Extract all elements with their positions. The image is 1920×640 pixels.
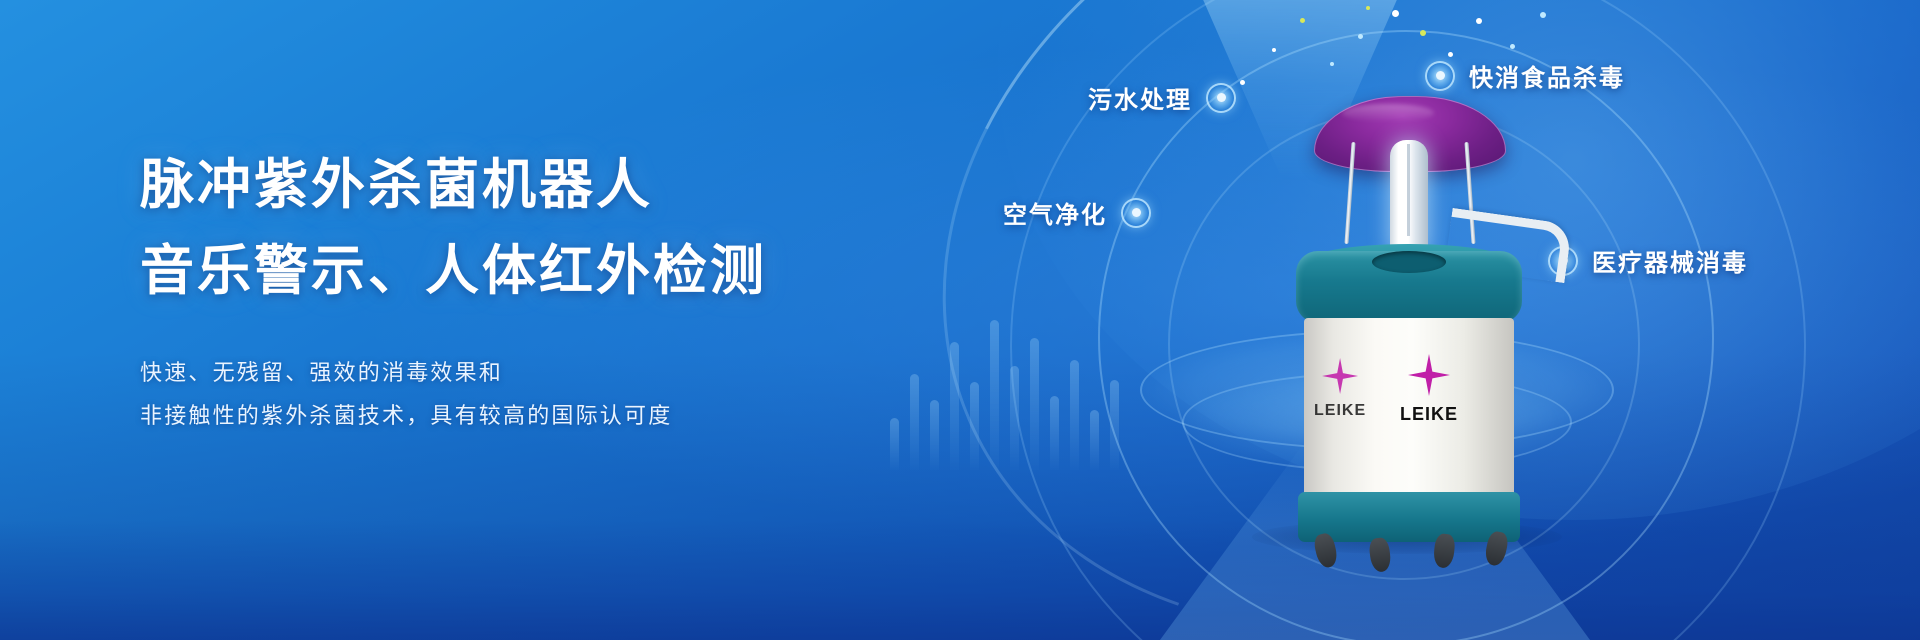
caster-wheel — [1433, 533, 1456, 569]
callout-label: 快消食品杀毒 — [1469, 58, 1625, 93]
sparkle-particle — [1420, 30, 1426, 36]
callout-fmcg-food-disinfection[interactable]: 快消食品杀毒 — [1425, 58, 1625, 93]
node-dot-icon — [1121, 198, 1151, 228]
sparkle-particle — [1358, 34, 1363, 39]
caster-wheel — [1368, 537, 1392, 573]
node-dot-icon — [1425, 61, 1455, 91]
star-logo-icon — [1322, 358, 1358, 394]
headline-line-1: 脉冲紫外杀菌机器人 — [140, 150, 900, 220]
node-dot-icon — [1206, 83, 1236, 113]
star-logo-icon — [1408, 354, 1450, 396]
sparkle-particle — [1300, 18, 1305, 23]
background-floor-gradient — [0, 520, 1920, 640]
equalizer-decoration — [890, 320, 1119, 470]
sparkle-particle — [1476, 18, 1482, 24]
brand-name-text: LEIKE — [1314, 402, 1366, 420]
lamp-tube-seam — [1407, 144, 1410, 236]
brand-mark-left: LEIKE — [1314, 358, 1366, 420]
brand-name-text: LEIKE — [1400, 404, 1458, 425]
uv-disinfection-robot: LEIKE LEIKE — [1268, 96, 1548, 516]
callout-label: 污水处理 — [1088, 80, 1192, 115]
subtext-block: 快速、无残留、强效的消毒效果和 非接触性的紫外杀菌技术，具有较高的国际认可度 — [140, 352, 900, 438]
sparkle-particle — [1366, 6, 1370, 10]
callout-medical-device-disinfection[interactable]: 医疗器械消毒 — [1548, 243, 1748, 278]
hero-banner: 脉冲紫外杀菌机器人 音乐警示、人体红外检测 快速、无残留、强效的消毒效果和 非接… — [0, 0, 1920, 640]
sparkle-particle — [1392, 10, 1399, 17]
callout-air-purification[interactable]: 空气净化 — [1003, 195, 1151, 230]
robot-base — [1298, 492, 1520, 542]
callout-wastewater-treatment[interactable]: 污水处理 — [1088, 80, 1236, 115]
sparkle-particle — [1448, 52, 1453, 57]
sparkle-particle — [1272, 48, 1276, 52]
sparkle-particle — [1540, 12, 1546, 18]
brand-mark-right: LEIKE — [1400, 354, 1458, 425]
headline-line-2: 音乐警示、人体红外检测 — [140, 236, 900, 306]
callout-label: 空气净化 — [1003, 195, 1107, 230]
subtext-line-2: 非接触性的紫外杀菌技术，具有较高的国际认可度 — [140, 395, 900, 438]
housing-lamp-port — [1372, 251, 1446, 273]
cap-gloss-highlight — [1342, 104, 1434, 122]
callout-label: 医疗器械消毒 — [1592, 243, 1748, 278]
sparkle-particle — [1510, 44, 1515, 49]
sparkle-particle — [1330, 62, 1334, 66]
sparkle-particle — [1240, 80, 1245, 85]
subtext-line-1: 快速、无残留、强效的消毒效果和 — [140, 352, 900, 395]
hero-text-block: 脉冲紫外杀菌机器人 音乐警示、人体红外检测 快速、无残留、强效的消毒效果和 非接… — [140, 150, 900, 438]
